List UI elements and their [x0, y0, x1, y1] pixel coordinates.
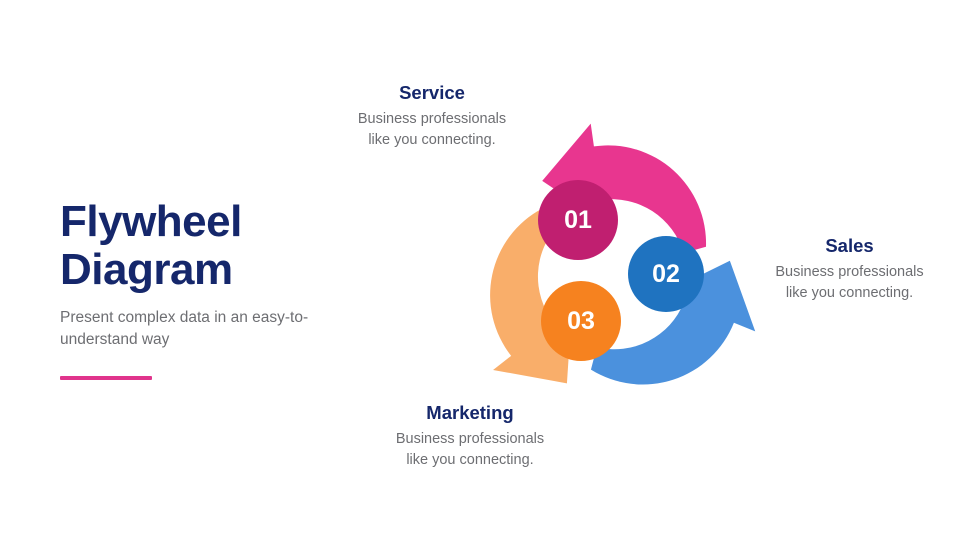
- callout-service: Service Business professionals like you …: [332, 82, 532, 150]
- accent-divider: [60, 376, 152, 380]
- sales-node-number: 02: [652, 260, 680, 288]
- callout-sales: Sales Business professionals like you co…: [757, 235, 942, 303]
- callout-sales-title: Sales: [757, 235, 942, 257]
- page-title: Flywheel Diagram: [60, 198, 360, 293]
- callout-marketing: Marketing Business professionals like yo…: [375, 402, 565, 470]
- flywheel-diagram: 01 02 03: [438, 100, 788, 450]
- slide-canvas: Flywheel Diagram Present complex data in…: [0, 0, 980, 551]
- marketing-node-number: 03: [567, 307, 595, 335]
- callout-sales-description: Business professionals like you connecti…: [757, 262, 942, 303]
- service-node-number: 01: [564, 206, 592, 234]
- flywheel-node-sales[interactable]: 02: [628, 236, 704, 312]
- callout-service-description: Business professionals like you connecti…: [332, 109, 532, 150]
- callout-service-title: Service: [332, 82, 532, 104]
- heading-block: Flywheel Diagram Present complex data in…: [60, 198, 360, 380]
- callout-marketing-title: Marketing: [375, 402, 565, 424]
- callout-marketing-description: Business professionals like you connecti…: [375, 429, 565, 470]
- flywheel-node-service[interactable]: 01: [538, 180, 618, 260]
- flywheel-node-marketing[interactable]: 03: [541, 281, 621, 361]
- page-subtitle: Present complex data in an easy-to-under…: [60, 307, 310, 350]
